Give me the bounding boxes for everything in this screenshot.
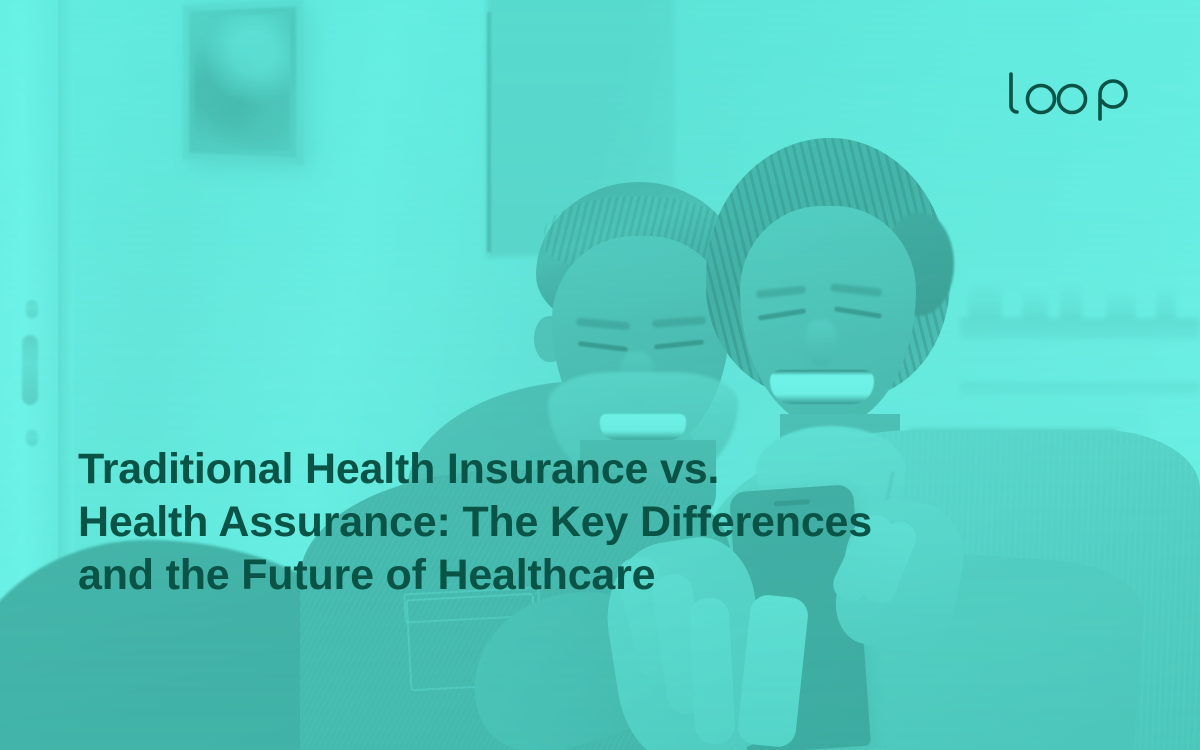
headline-line-1: Traditional Health Insurance vs.	[78, 443, 958, 496]
page-title: Traditional Health Insurance vs. Health …	[78, 443, 958, 602]
loop-wordmark-icon	[1004, 66, 1136, 128]
loop-logo[interactable]	[1004, 66, 1136, 128]
hero-banner: Traditional Health Insurance vs. Health …	[0, 0, 1200, 750]
headline-line-2: Health Assurance: The Key Differences	[78, 496, 958, 549]
hero-content: Traditional Health Insurance vs. Health …	[0, 0, 1200, 750]
headline-line-3: and the Future of Healthcare	[78, 549, 958, 602]
